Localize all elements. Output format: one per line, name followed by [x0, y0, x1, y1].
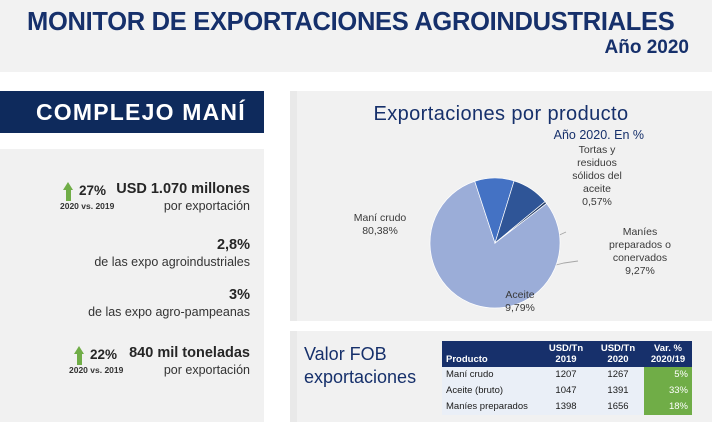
pie-label-tortas-l3: sólidos del: [554, 170, 640, 183]
stat-block-usd: 27% 2020 vs. 2019 USD 1.070 millones por…: [60, 181, 250, 221]
cell-producto: Aceite (bruto): [442, 383, 540, 399]
panel-accent-strip: [290, 331, 297, 422]
pie-label-manies-pct: 9,27%: [588, 265, 692, 278]
table-row: Maníes preparados1398165618%: [442, 399, 692, 415]
fob-table-head: Producto USD/Tn 2019 USD/Tn 2020 Var. % …: [442, 341, 692, 367]
complejo-mani-title: COMPLEJO MANÍ: [36, 99, 246, 126]
fob-header-var: Var. % 2020/19: [644, 341, 692, 367]
pie-label-mani-crudo: Maní crudo 80,38%: [338, 212, 422, 238]
fob-title: Valor FOB exportaciones: [304, 343, 416, 389]
chart-panel: Exportaciones por producto Año 2020. En …: [290, 91, 712, 321]
fob-header-producto: Producto: [442, 341, 540, 367]
cell-producto: Maní crudo: [442, 367, 540, 383]
cell-var-pct: 5%: [644, 367, 692, 383]
fob-header-2020: USD/Tn 2020: [592, 341, 644, 367]
cell-usd-2019: 1047: [540, 383, 592, 399]
pie-label-tortas-l4: aceite: [554, 183, 640, 196]
fob-panel: Valor FOB exportaciones Producto USD/Tn …: [290, 331, 712, 422]
page-subtitle: Año 2020: [605, 37, 689, 59]
cell-usd-2020: 1656: [592, 399, 644, 415]
cell-var-pct: 33%: [644, 383, 692, 399]
complejo-mani-banner: COMPLEJO MANÍ: [0, 91, 264, 133]
fob-title-line2: exportaciones: [304, 366, 416, 389]
table-row: Maní crudo120712675%: [442, 367, 692, 383]
page-header: MONITOR DE EXPORTACIONES AGROINDUSTRIALE…: [0, 0, 712, 72]
stat-value-pampeanas: 3%: [229, 287, 250, 303]
stat-block-pampeanas: 3% de las expo agro-pampeanas: [60, 287, 250, 327]
stat-block-agroindustriales: 2,8% de las expo agroindustriales: [60, 237, 250, 277]
cell-usd-2020: 1267: [592, 367, 644, 383]
fob-header-2019: USD/Tn 2019: [540, 341, 592, 367]
fob-title-line1: Valor FOB: [304, 343, 416, 366]
pie-label-aceite-name: Aceite: [489, 289, 551, 302]
stat-delta-sub-toneladas: 2020 vs. 2019: [69, 365, 123, 375]
fob-table: Producto USD/Tn 2019 USD/Tn 2020 Var. % …: [442, 341, 692, 415]
stat-value-agroindustriales: 2,8%: [217, 237, 250, 253]
pie-label-tortas-l1: Tortas y: [554, 144, 640, 157]
stat-delta-toneladas: 22%: [90, 347, 117, 362]
pie-label-mani-crudo-pct: 80,38%: [338, 225, 422, 238]
infographic-root: MONITOR DE EXPORTACIONES AGROINDUSTRIALE…: [0, 0, 712, 422]
stat-value-usd: USD 1.070 millones: [116, 181, 250, 197]
pie-label-aceite: Aceite 9,79%: [489, 289, 551, 315]
stat-value-toneladas: 840 mil toneladas: [129, 345, 250, 361]
cell-usd-2019: 1207: [540, 367, 592, 383]
stat-caption-pampeanas: de las expo agro-pampeanas: [88, 305, 250, 319]
cell-usd-2020: 1391: [592, 383, 644, 399]
left-stats-panel: 27% 2020 vs. 2019 USD 1.070 millones por…: [0, 149, 264, 422]
pie-label-manies-l3: conervados: [588, 252, 692, 265]
stat-caption-agroindustriales: de las expo agroindustriales: [94, 255, 250, 269]
fob-table-header-row: Producto USD/Tn 2019 USD/Tn 2020 Var. % …: [442, 341, 692, 367]
pie-label-tortas-l2: residuos: [554, 157, 640, 170]
pie-label-aceite-pct: 9,79%: [489, 302, 551, 315]
pie-label-tortas: Tortas y residuos sólidos del aceite 0,5…: [554, 144, 640, 209]
stat-caption-toneladas: por exportación: [164, 363, 250, 377]
pie-label-manies-l1: Maníes: [588, 226, 692, 239]
fob-table-body: Maní crudo120712675%Aceite (bruto)104713…: [442, 367, 692, 415]
cell-producto: Maníes preparados: [442, 399, 540, 415]
stat-caption-usd: por exportación: [164, 199, 250, 213]
cell-usd-2019: 1398: [540, 399, 592, 415]
cell-var-pct: 18%: [644, 399, 692, 415]
stat-block-toneladas: 22% 2020 vs. 2019 840 mil toneladas por …: [60, 345, 250, 385]
pie-label-tortas-pct: 0,57%: [554, 196, 640, 209]
pie-label-manies: Maníes preparados o conervados 9,27%: [588, 226, 692, 278]
pie-chart: Maní crudo 80,38% Aceite 9,79% Maníes pr…: [290, 91, 712, 321]
pie-chart-svg: [290, 91, 712, 321]
stat-delta-usd: 27%: [79, 183, 106, 198]
arrow-up-icon: [74, 346, 85, 365]
pie-label-mani-crudo-name: Maní crudo: [338, 212, 422, 225]
page-title: MONITOR DE EXPORTACIONES AGROINDUSTRIALE…: [27, 8, 674, 37]
stat-delta-sub-usd: 2020 vs. 2019: [60, 201, 114, 211]
table-row: Aceite (bruto)1047139133%: [442, 383, 692, 399]
pie-label-manies-l2: preparados o: [588, 239, 692, 252]
arrow-up-icon: [63, 182, 74, 201]
